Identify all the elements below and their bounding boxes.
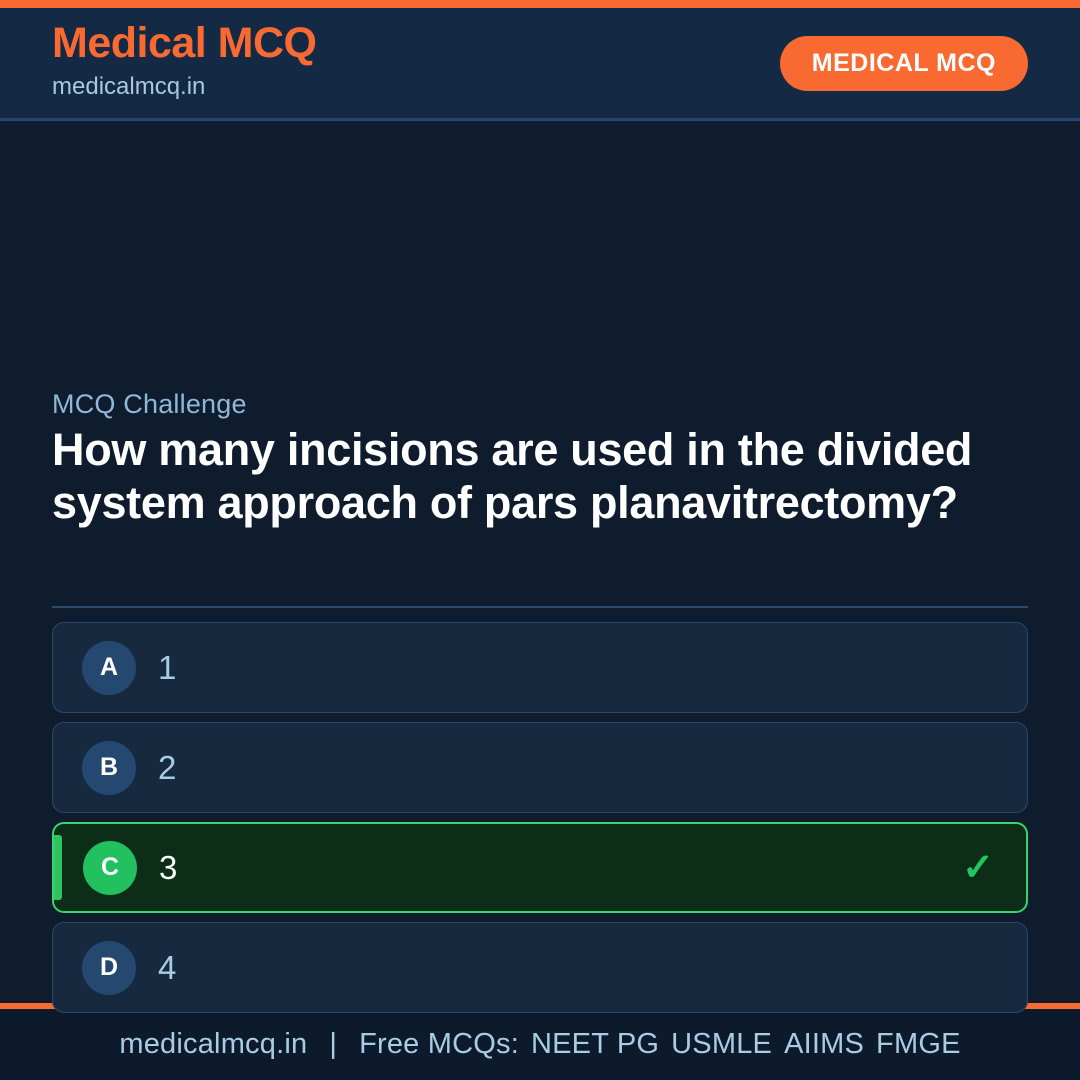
kicker-label: MCQ Challenge [52,389,247,420]
footer-label: Free MCQs: [359,1028,519,1061]
option-d[interactable]: D 4 ✓ [52,922,1028,1013]
option-d-text: 4 [158,951,176,984]
footer-divider: | [329,1028,337,1061]
brand-block: Medical MCQ medicalmcq.in [52,21,317,104]
question-text: How many incisions are used in the divid… [52,424,982,529]
options-list: A 1 ✓ B 2 ✓ C 3 ✓ D 4 ✓ [52,622,1028,1013]
top-accent-bar [0,0,1080,8]
brand-title: Medical MCQ [52,21,317,66]
option-d-letter: D [82,941,136,995]
footer-exam-usmle: USMLE [671,1028,772,1061]
main-content: MCQ Challenge How many incisions are use… [0,121,1080,1003]
question-separator [52,606,1028,608]
footer-exam-fmge: FMGE [876,1028,961,1061]
brand-subtitle: medicalmcq.in [52,69,317,105]
check-icon: ✓ [962,849,994,887]
option-b-text: 2 [158,751,176,784]
header: Medical MCQ medicalmcq.in MEDICAL MCQ [0,8,1080,121]
footer-inner: medicalmcq.in | Free MCQs: NEET PG USMLE… [119,1028,960,1061]
footer: medicalmcq.in | Free MCQs: NEET PG USMLE… [0,1009,1080,1080]
correct-accent-bar [54,835,62,900]
option-c-text: 3 [159,851,177,884]
option-a-letter: A [82,641,136,695]
option-b-letter: B [82,741,136,795]
footer-site: medicalmcq.in [119,1028,307,1061]
option-a-text: 1 [158,651,176,684]
option-c-letter: C [83,841,137,895]
footer-exam-aiims: AIIMS [784,1028,864,1061]
footer-exam-neetpg: NEET PG [531,1028,659,1061]
header-badge: MEDICAL MCQ [780,36,1028,91]
option-a[interactable]: A 1 ✓ [52,622,1028,713]
option-c[interactable]: C 3 ✓ [52,822,1028,913]
option-b[interactable]: B 2 ✓ [52,722,1028,813]
mcq-card: Medical MCQ medicalmcq.in MEDICAL MCQ MC… [0,0,1080,1080]
